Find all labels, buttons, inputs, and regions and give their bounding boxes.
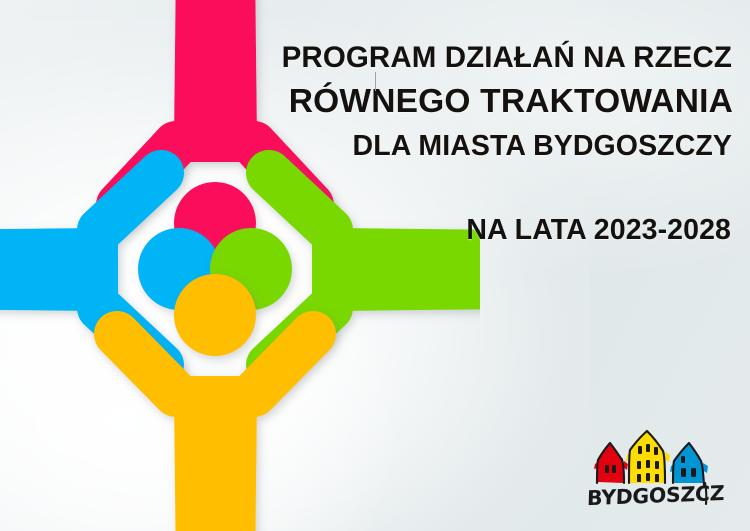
headline-line-2: RÓWNEGO TRAKTOWANIA — [272, 79, 734, 124]
bydgoszcz-city-logo: BYDGOSZCZ — [586, 430, 726, 518]
bydgoszcz-wordmark: BYDGOSZCZ — [587, 481, 725, 510]
headline-line-4-years: NA LATA 2023-2028 — [272, 210, 734, 250]
headline-block: PROGRAM DZIAŁAŃ NA RZECZ RÓWNEGO TRAKTOW… — [272, 37, 734, 250]
person-head-bottom — [174, 274, 256, 356]
house-yellow-icon — [626, 430, 670, 483]
text-caret — [375, 72, 376, 91]
house-red-icon — [594, 443, 628, 483]
house-blue-icon — [670, 443, 708, 486]
headline-line-1: PROGRAM DZIAŁAŃ NA RZECZ — [272, 37, 734, 79]
poster-canvas: PROGRAM DZIAŁAŃ NA RZECZ RÓWNEGO TRAKTOW… — [0, 0, 750, 531]
headline-line-3: DLA MIASTA BYDGOSZCZY — [272, 124, 734, 168]
